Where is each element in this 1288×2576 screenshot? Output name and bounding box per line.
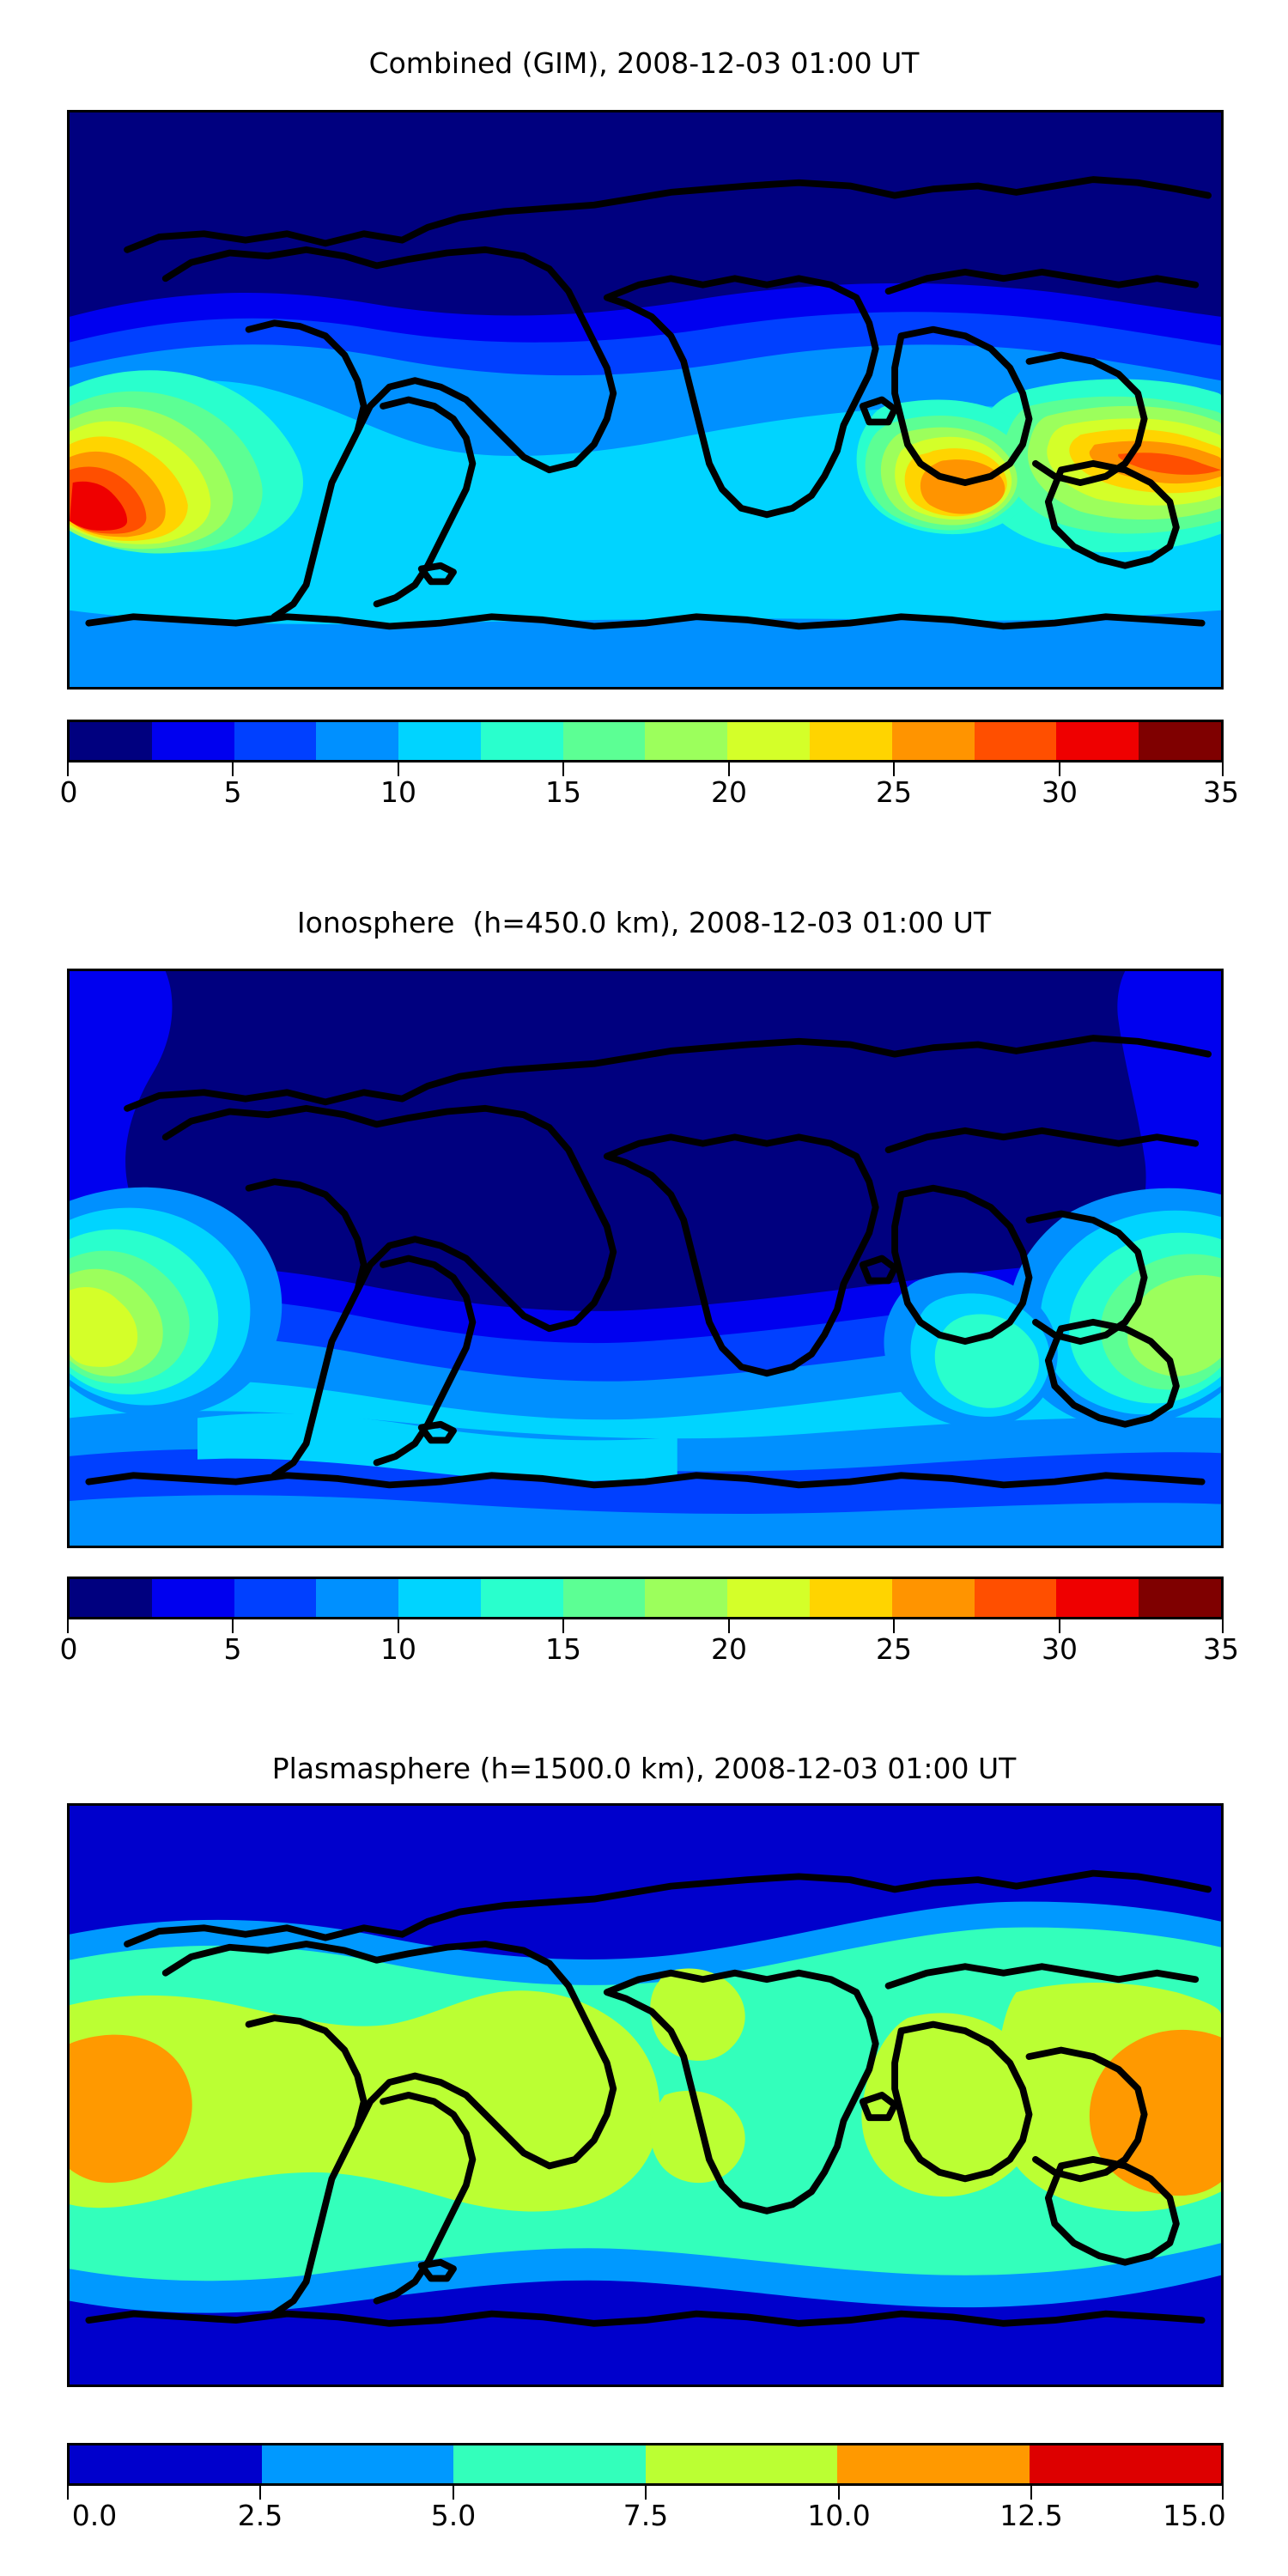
colorbar-tick-label: 7.5	[623, 2501, 668, 2530]
colorbar-tick-label: 5	[224, 1635, 242, 1663]
colorbar-ionosphere: 0 5 10 15 20 25 30 35	[67, 1577, 1224, 1669]
map-svg-ionosphere	[70, 971, 1221, 1546]
colorbar-tick	[728, 1619, 730, 1633]
colorbar-bar-plasmasphere	[67, 2443, 1224, 2486]
colorbar-tick-label: 20	[711, 778, 747, 806]
colorbar-tick-label: 25	[876, 1635, 912, 1663]
colorbar-segment	[892, 722, 975, 760]
colorbar-tick-label: 20	[711, 1635, 747, 1663]
colorbar-tick-label: 15	[545, 778, 581, 806]
colorbar-tick	[1059, 1619, 1060, 1633]
colorbar-segment	[1030, 2445, 1222, 2483]
colorbar-segment	[563, 722, 646, 760]
colorbar-tick	[232, 1619, 234, 1633]
colorbar-tick	[398, 762, 399, 776]
map-svg-combined-gim	[70, 112, 1221, 687]
colorbar-tick	[1222, 2486, 1224, 2500]
colorbar-tick-label: 0	[60, 1635, 78, 1663]
panel-title-combined-gim: Combined (GIM), 2008-12-03 01:00 UT	[0, 49, 1288, 77]
colorbar-segment	[646, 2445, 838, 2483]
colorbar-segment	[1056, 722, 1139, 760]
colorbar-tick	[728, 762, 730, 776]
panel-title-ionosphere: Ionosphere (h=450.0 km), 2008-12-03 01:0…	[0, 908, 1288, 937]
colorbar-segment	[481, 1579, 563, 1617]
colorbar-segment	[398, 722, 481, 760]
colorbar-segment	[70, 2445, 262, 2483]
colorbar-tick	[1222, 762, 1224, 776]
colorbar-bar-combined-gim	[67, 720, 1224, 762]
colorbar-segment	[645, 722, 727, 760]
map-ionosphere	[67, 969, 1224, 1548]
colorbar-tick-label: 15	[545, 1635, 581, 1663]
panel-title-plasmasphere: Plasmasphere (h=1500.0 km), 2008-12-03 0…	[0, 1754, 1288, 1783]
colorbar-tick	[838, 2486, 840, 2500]
map-plasmasphere	[67, 1803, 1224, 2387]
colorbar-tick-label: 35	[1203, 778, 1239, 806]
colorbar-segment	[1139, 722, 1221, 760]
colorbar-segment	[316, 1579, 398, 1617]
colorbar-segment	[316, 722, 398, 760]
colorbar-tick	[562, 1619, 564, 1633]
colorbar-combined-gim: 0 5 10 15 20 25 30 35	[67, 720, 1224, 812]
map-combined-gim	[67, 110, 1224, 690]
colorbar-tick-label: 10	[380, 778, 416, 806]
colorbar-segment	[645, 1579, 727, 1617]
colorbar-tick-label: 10	[380, 1635, 416, 1663]
colorbar-tick	[259, 2486, 261, 2500]
colorbar-segment	[810, 722, 892, 760]
colorbar-segment	[70, 1579, 152, 1617]
colorbar-tick-label: 5.0	[431, 2501, 476, 2530]
colorbar-segment	[481, 722, 563, 760]
colorbar-segment	[810, 1579, 892, 1617]
colorbar-segment	[70, 722, 152, 760]
colorbar-segment	[398, 1579, 481, 1617]
colorbar-segment	[234, 722, 317, 760]
colorbar-plasmasphere: 0.0 2.5 5.0 7.5 10.0 12.5 15.0	[67, 2443, 1224, 2536]
tec-figure: Combined (GIM), 2008-12-03 01:00 UT	[0, 0, 1288, 2576]
colorbar-segment	[727, 1579, 810, 1617]
colorbar-tick-label: 10.0	[807, 2501, 870, 2530]
colorbar-tick-label: 0	[60, 778, 78, 806]
colorbar-tick	[893, 762, 895, 776]
colorbar-tick	[562, 762, 564, 776]
colorbar-segment	[837, 2445, 1030, 2483]
colorbar-tick	[232, 762, 234, 776]
colorbar-tick-label: 25	[876, 778, 912, 806]
colorbar-segment	[1056, 1579, 1139, 1617]
colorbar-labels-plasmasphere: 0.0 2.5 5.0 7.5 10.0 12.5 15.0	[67, 2501, 1224, 2536]
colorbar-segment	[453, 2445, 646, 2483]
colorbar-segment	[563, 1579, 646, 1617]
colorbar-segment	[1139, 1579, 1221, 1617]
colorbar-tick	[453, 2486, 454, 2500]
colorbar-segment	[727, 722, 810, 760]
colorbar-tick	[67, 1619, 69, 1633]
colorbar-labels-ionosphere: 0 5 10 15 20 25 30 35	[67, 1635, 1224, 1669]
colorbar-tick-label: 12.5	[999, 2501, 1062, 2530]
colorbar-tick	[893, 1619, 895, 1633]
colorbar-tick-label: 15.0	[1163, 2501, 1225, 2530]
map-svg-plasmasphere	[70, 1806, 1221, 2385]
colorbar-segment	[975, 1579, 1057, 1617]
colorbar-segment	[152, 1579, 234, 1617]
colorbar-segment	[152, 722, 234, 760]
colorbar-segment	[975, 722, 1057, 760]
colorbar-tick-label: 30	[1042, 778, 1078, 806]
colorbar-labels-combined-gim: 0 5 10 15 20 25 30 35	[67, 778, 1224, 812]
colorbar-tick	[1030, 2486, 1032, 2500]
colorbar-tick-label: 30	[1042, 1635, 1078, 1663]
colorbar-tick	[1059, 762, 1060, 776]
colorbar-tick-label: 35	[1203, 1635, 1239, 1663]
colorbar-tick	[67, 2486, 69, 2500]
colorbar-segment	[262, 2445, 454, 2483]
colorbar-tick	[67, 762, 69, 776]
colorbar-bar-ionosphere	[67, 1577, 1224, 1619]
colorbar-tick	[1222, 1619, 1224, 1633]
colorbar-tick	[398, 1619, 399, 1633]
colorbar-tick-label: 5	[224, 778, 242, 806]
colorbar-tick-label: 0.0	[72, 2501, 117, 2530]
colorbar-tick	[645, 2486, 647, 2500]
colorbar-segment	[234, 1579, 317, 1617]
colorbar-tick-label: 2.5	[238, 2501, 283, 2530]
colorbar-segment	[892, 1579, 975, 1617]
